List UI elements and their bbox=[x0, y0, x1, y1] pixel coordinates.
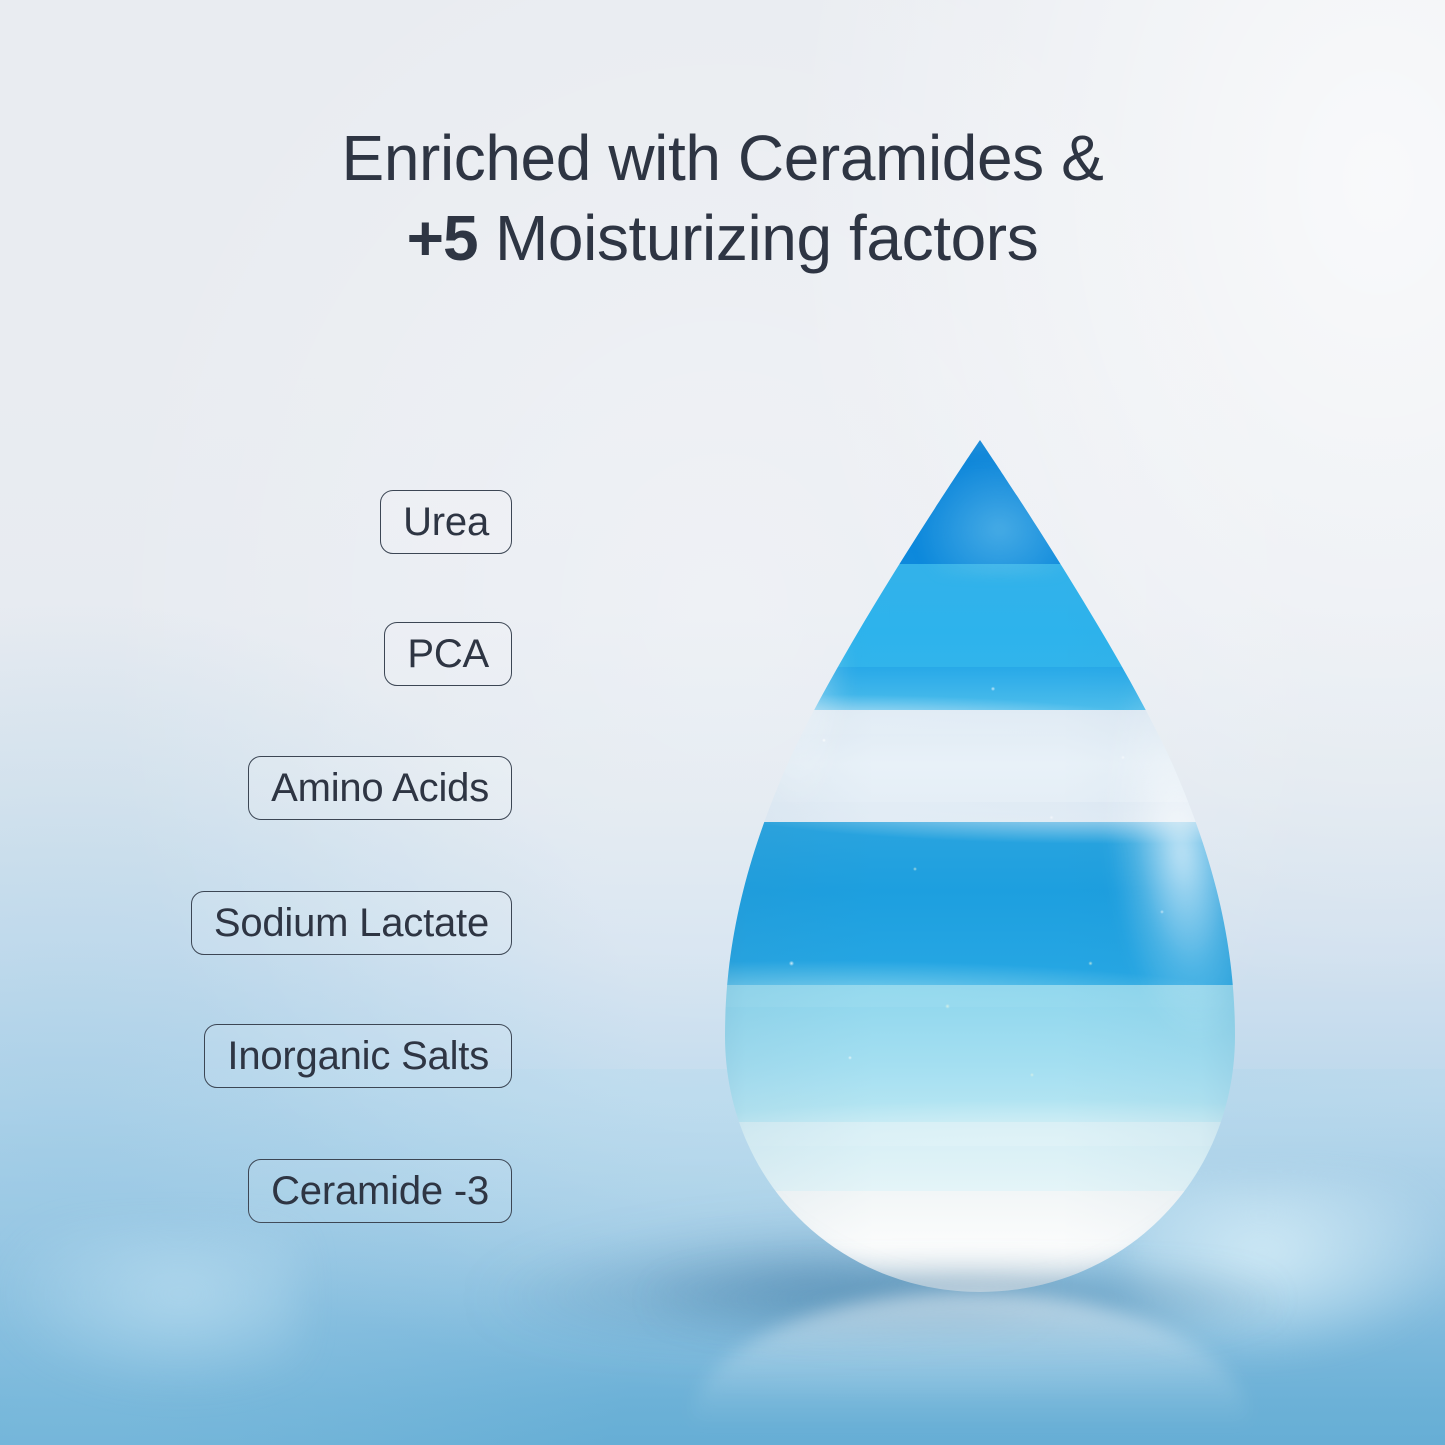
infographic-canvas: Enriched with Ceramides & +5 Moisturizin… bbox=[0, 0, 1445, 1445]
headline-emphasis-plus5: +5 bbox=[407, 202, 478, 274]
floor-highlight-left bbox=[0, 1230, 300, 1390]
ingredient-label: PCA bbox=[407, 634, 489, 674]
droplet-edge-shading bbox=[655, 440, 1305, 1298]
ingredient-label: Sodium Lactate bbox=[214, 903, 489, 943]
ingredient-label: Amino Acids bbox=[271, 768, 489, 808]
headline-line-1: Enriched with Ceramides & bbox=[342, 122, 1104, 194]
ingredient-pill-ceramide-3[interactable]: Ceramide -3 bbox=[248, 1159, 512, 1223]
ingredient-label: Inorganic Salts bbox=[227, 1036, 489, 1076]
ingredient-pill-sodium-lactate[interactable]: Sodium Lactate bbox=[191, 891, 512, 955]
ingredient-pill-inorganic-salts[interactable]: Inorganic Salts bbox=[204, 1024, 512, 1088]
headline-line-2: +5 Moisturizing factors bbox=[0, 198, 1445, 278]
page-title: Enriched with Ceramides & +5 Moisturizin… bbox=[0, 118, 1445, 278]
ingredient-pill-amino-acids[interactable]: Amino Acids bbox=[248, 756, 512, 820]
ingredient-label: Urea bbox=[403, 502, 489, 542]
ingredient-pill-pca[interactable]: PCA bbox=[384, 622, 512, 686]
ingredient-pill-urea[interactable]: Urea bbox=[380, 490, 512, 554]
droplet-body bbox=[655, 440, 1305, 1298]
ingredient-label: Ceramide -3 bbox=[271, 1171, 489, 1211]
water-droplet-image bbox=[640, 430, 1320, 1310]
headline-line-2-rest: Moisturizing factors bbox=[478, 202, 1039, 274]
